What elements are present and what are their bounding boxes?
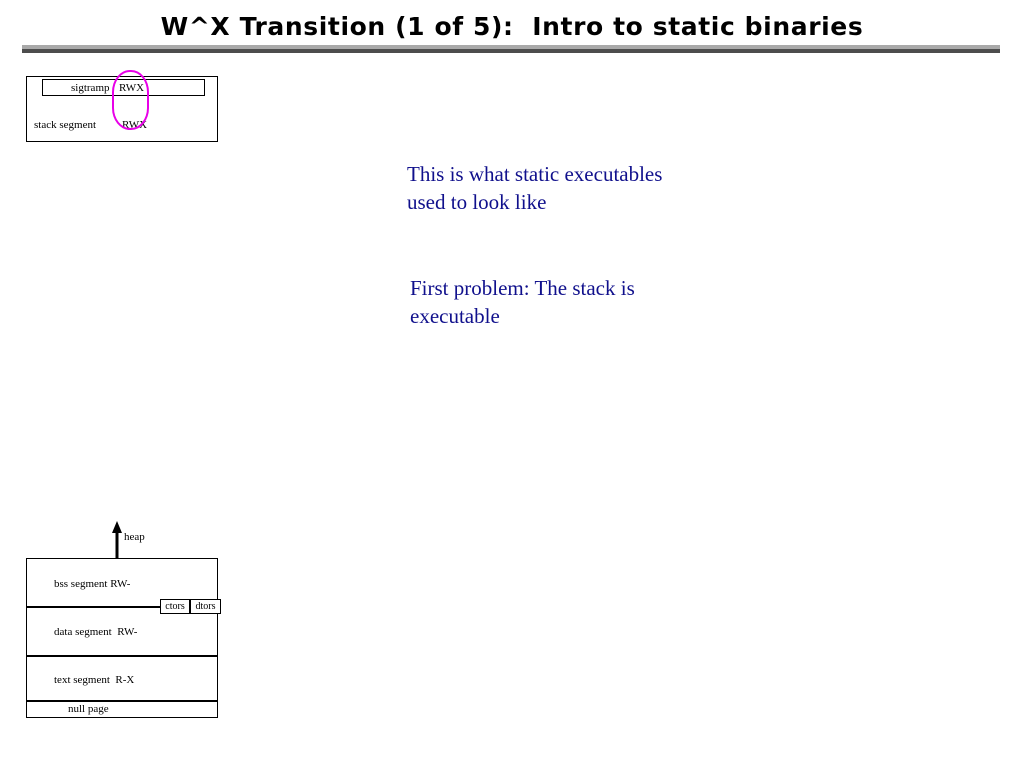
annotation-first-problem: First problem: The stack is executable [410, 274, 740, 330]
rwx-highlight-oval-annotation [112, 70, 149, 130]
heap-arrow-icon [86, 520, 156, 560]
sigtramp-label: sigtramp [71, 82, 110, 94]
title-divider-dark [22, 49, 1000, 53]
heap-label: heap [124, 531, 145, 543]
data-segment-label: data segment RW- [54, 626, 137, 638]
annotation-static-executables: This is what static executables used to … [407, 160, 747, 216]
dtors-section-box: dtors [190, 599, 221, 614]
divider-text-null [26, 700, 218, 702]
stack-segment-label: stack segment [34, 119, 96, 131]
null-page-label: null page [68, 703, 109, 715]
stack-memory-diagram: sigtramp RWX stack segment RWX [26, 76, 218, 142]
page-title: W^X Transition (1 of 5): Intro to static… [0, 12, 1024, 41]
text-segment-label: text segment R-X [54, 674, 134, 686]
title-divider [22, 45, 1000, 53]
ctors-section-box: ctors [160, 599, 190, 614]
divider-data-text [26, 655, 218, 657]
bss-segment-label: bss segment RW- [54, 578, 130, 590]
static-binary-memory-diagram: bss segment RW- data segment RW- text se… [26, 558, 218, 718]
heap-growth-arrow: heap [86, 520, 156, 560]
